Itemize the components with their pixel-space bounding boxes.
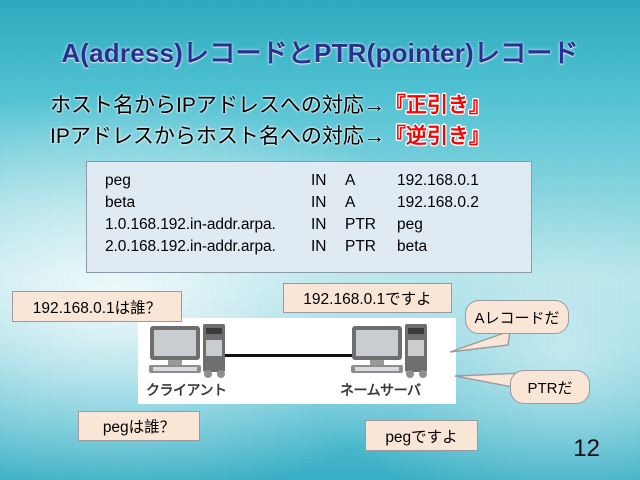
- table-row: peg IN A 192.168.0.1: [105, 170, 479, 192]
- callout-record-a: Aレコードだ: [465, 300, 569, 334]
- record-class: IN: [311, 236, 345, 258]
- bullet-1-text: IPアドレスからホスト名への対応→: [50, 125, 385, 148]
- bullet-1-highlight: 『逆引き』: [385, 125, 490, 148]
- record-type: A: [345, 170, 397, 192]
- record-value: 192.168.0.1: [397, 170, 479, 192]
- bullet-0-text: ホスト名からIPアドレスへの対応→: [50, 94, 385, 117]
- desktop-computer-icon: [350, 324, 436, 380]
- bullet-0-highlight: 『正引き』: [385, 94, 490, 117]
- client-label: クライアント: [146, 380, 226, 400]
- record-value: peg: [397, 214, 479, 236]
- record-value: 192.168.0.2: [397, 192, 479, 214]
- record-type: A: [345, 192, 397, 214]
- record-class: IN: [311, 170, 345, 192]
- bullet-line-reverse-lookup: IPアドレスからホスト名への対応→『逆引き』: [50, 120, 490, 150]
- page-number: 12: [573, 435, 600, 463]
- callout-answer-ip: 192.168.0.1ですよ: [283, 283, 452, 313]
- record-name: beta: [105, 192, 311, 214]
- callout-answer-name: pegですよ: [365, 420, 478, 451]
- callout-query-name: pegは誰？: [78, 411, 200, 441]
- record-name: 2.0.168.192.in-addr.arpa.: [105, 236, 311, 258]
- callout-record-ptr: PTRだ: [510, 370, 590, 404]
- desktop-computer-icon: [148, 324, 234, 380]
- network-diagram-panel: クライアント ネームサーバ: [138, 318, 456, 404]
- table-row: 1.0.168.192.in-addr.arpa. IN PTR peg: [105, 214, 479, 236]
- record-class: IN: [311, 192, 345, 214]
- dns-record-table: peg IN A 192.168.0.1 beta IN A 192.168.0…: [105, 170, 479, 258]
- record-value: beta: [397, 236, 479, 258]
- dns-record-box: peg IN A 192.168.0.1 beta IN A 192.168.0…: [86, 161, 532, 273]
- record-type: PTR: [345, 236, 397, 258]
- record-type: PTR: [345, 214, 397, 236]
- callout-query-ip: 192.168.0.1は誰？: [12, 291, 182, 322]
- table-row: beta IN A 192.168.0.2: [105, 192, 479, 214]
- page-title: A(adress)レコードとPTR(pointer)レコード: [0, 33, 640, 70]
- record-class: IN: [311, 214, 345, 236]
- bullet-line-forward-lookup: ホスト名からIPアドレスへの対応→『正引き』: [50, 89, 490, 119]
- record-name: peg: [105, 170, 311, 192]
- table-row: 2.0.168.192.in-addr.arpa. IN PTR beta: [105, 236, 479, 258]
- nameserver-label: ネームサーバ: [340, 380, 420, 400]
- record-name: 1.0.168.192.in-addr.arpa.: [105, 214, 311, 236]
